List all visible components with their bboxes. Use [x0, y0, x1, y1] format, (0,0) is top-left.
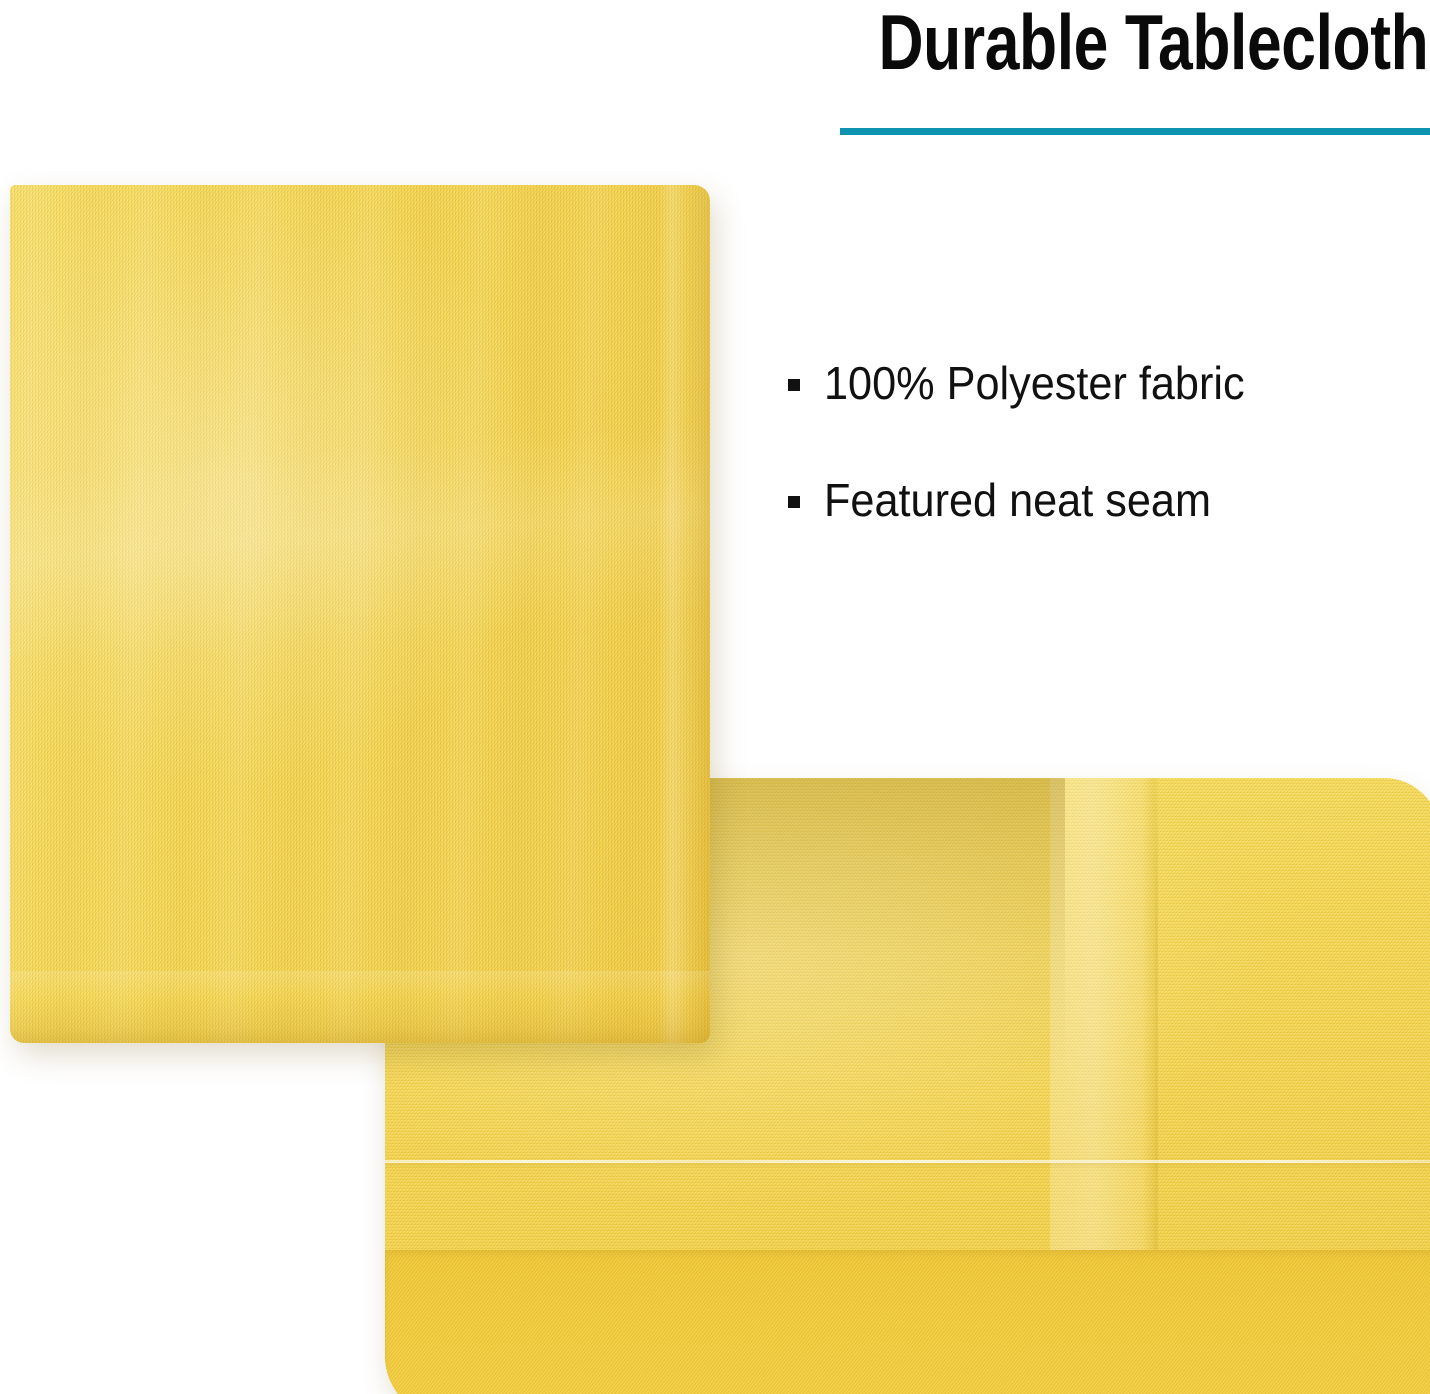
stitched-seam-line [385, 1160, 1430, 1163]
title-underline-rule [840, 128, 1430, 135]
square-bullet-icon [788, 379, 800, 391]
list-item: Featured neat seam [788, 469, 1428, 531]
product-feature-graphic: Durable Tablecloth 100% Polyester fabric… [0, 0, 1430, 1394]
folded-tablecloth-image [10, 185, 710, 1043]
page-title: Durable Tablecloth [878, 0, 1428, 90]
list-item: 100% Polyester fabric [788, 352, 1428, 414]
folded-under-band [385, 1250, 1430, 1394]
feature-label: Featured neat seam [824, 469, 1211, 531]
hem-band [1050, 778, 1155, 1250]
feature-list: 100% Polyester fabric Featured neat seam [788, 352, 1428, 586]
band-weave-texture [385, 1250, 1430, 1394]
fold-bottom-edge [10, 971, 710, 1043]
square-bullet-icon [788, 496, 800, 508]
headline-block: Durable Tablecloth [620, 0, 1430, 150]
feature-label: 100% Polyester fabric [824, 352, 1245, 414]
hem-edge-line [1155, 778, 1158, 1250]
fold-right-edge [658, 185, 710, 1043]
